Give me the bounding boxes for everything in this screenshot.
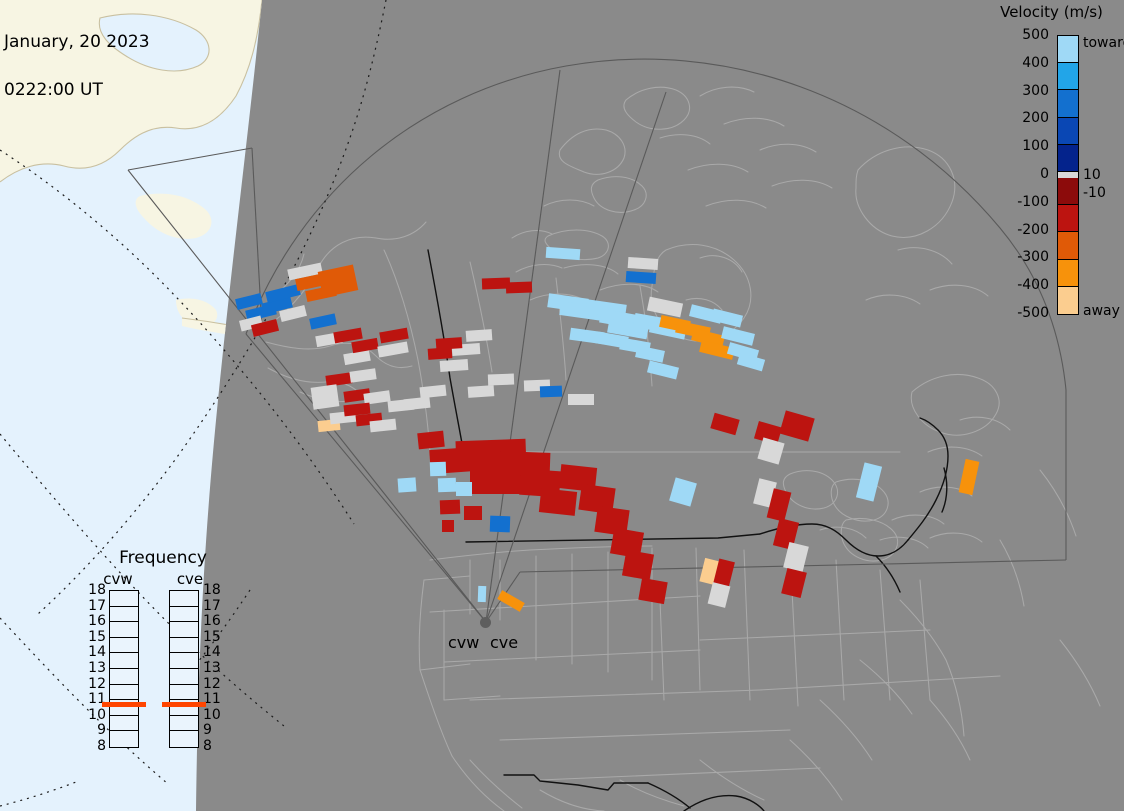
colorbar-label-away: away (1083, 303, 1120, 319)
frequency-tick-15: 15 (203, 629, 221, 645)
velocity-cell (488, 374, 514, 386)
velocity-cell (398, 477, 417, 492)
velocity-cell (781, 568, 807, 598)
colorbar-tick-100: 100 (1022, 138, 1049, 154)
frequency-tick-17: 17 (88, 598, 106, 614)
velocity-cell (440, 359, 469, 372)
velocity-cell (464, 506, 482, 520)
frequency-tick-8: 8 (203, 738, 212, 754)
colorbar-swatch-toward-3 (1058, 118, 1078, 145)
velocity-cell (349, 368, 376, 383)
velocity-cell (497, 590, 525, 612)
velocity-cell (647, 297, 683, 318)
velocity-cell (635, 345, 665, 363)
timestamp-date: January, 20 2023 (4, 34, 150, 50)
velocity-cell (351, 338, 379, 353)
radar-site-marker (480, 617, 491, 628)
velocity-cell (959, 459, 980, 495)
frequency-tick-16: 16 (203, 613, 221, 629)
frequency-tick-18: 18 (203, 582, 221, 598)
colorbar-tick-300: 300 (1022, 83, 1049, 99)
velocity-cell (490, 516, 511, 533)
colorbar-tick-0: 0 (1040, 166, 1049, 182)
colorbar-label-toward: toward (1083, 35, 1124, 51)
velocity-cell (440, 500, 460, 515)
frequency-scale-box-cve (169, 590, 199, 748)
frequency-segment (170, 731, 198, 747)
colorbar-tick-neg500: -500 (1017, 305, 1049, 321)
timestamp-block: January, 20 2023 0222:00 UT (4, 2, 150, 130)
velocity-cell (428, 347, 453, 360)
colorbar-swatch-away-4 (1058, 287, 1078, 314)
velocity-cell (506, 282, 532, 294)
frequency-tick-14: 14 (203, 644, 221, 660)
frequency-ticks-cvw: 18171615141312111098 (88, 590, 108, 748)
colorbar-threshold-high: 10 (1083, 167, 1101, 183)
velocity-cell (318, 265, 359, 298)
velocity-cell (419, 385, 446, 399)
frequency-legend-title: Frequency (88, 548, 238, 568)
frequency-tick-15: 15 (88, 629, 106, 645)
velocity-cell (377, 341, 408, 357)
velocity-cell (540, 386, 562, 398)
colorbar-tick-400: 400 (1022, 55, 1049, 71)
velocity-cell (333, 328, 362, 344)
colorbar-tick-500: 500 (1022, 27, 1049, 43)
velocity-cell (669, 477, 697, 506)
velocity-cell (325, 372, 352, 387)
radar-site-label-cvw: cvw (448, 633, 479, 652)
velocity-cell (403, 397, 430, 411)
frequency-tick-16: 16 (88, 613, 106, 629)
velocity-cell (568, 394, 594, 405)
velocity-cell (456, 482, 472, 496)
frequency-marker-cvw (102, 702, 146, 707)
velocity-cell (539, 488, 577, 516)
frequency-tick-12: 12 (88, 676, 106, 692)
frequency-ticks-cve: 18171615141312111098 (201, 590, 221, 748)
colorbar-swatch-away-1 (1058, 205, 1078, 232)
velocity-cell (708, 582, 731, 608)
velocity-cell (379, 328, 408, 344)
frequency-tick-8: 8 (97, 738, 106, 754)
velocity-cell (546, 247, 581, 260)
velocity-cell (757, 437, 784, 464)
colorbar-tick-labels: 5004003002001000-100-200-300-400-500 (975, 35, 1053, 315)
frequency-tick-10: 10 (203, 707, 221, 723)
frequency-segment (170, 622, 198, 638)
velocity-cell (626, 271, 657, 284)
colorbar-swatch-toward-0 (1058, 36, 1078, 63)
velocity-cell (442, 520, 454, 532)
frequency-segment (170, 716, 198, 732)
frequency-tick-14: 14 (88, 644, 106, 660)
velocity-cell (468, 385, 495, 398)
colorbar-tick-neg400: -400 (1017, 277, 1049, 293)
frequency-segment (170, 607, 198, 623)
frequency-tick-10: 10 (88, 707, 106, 723)
colorbar-side-labels: toward10-10away (1083, 35, 1124, 325)
colorbar-tick-neg200: -200 (1017, 222, 1049, 238)
velocity-cell (628, 257, 659, 270)
frequency-segment (110, 669, 138, 685)
colorbar-tick-neg100: -100 (1017, 194, 1049, 210)
frequency-segment (110, 731, 138, 747)
velocity-cell (721, 326, 755, 345)
colorbar-tick-200: 200 (1022, 110, 1049, 126)
radar-site-label-cve: cve (490, 633, 518, 652)
colorbar-swatch-away-0 (1058, 178, 1078, 205)
frequency-segment (110, 607, 138, 623)
velocity-cell (438, 478, 456, 493)
frequency-tick-9: 9 (97, 722, 106, 738)
velocity-cell (478, 586, 487, 602)
colorbar-gradient (1057, 35, 1079, 315)
frequency-tick-18: 18 (88, 582, 106, 598)
colorbar-title: Velocity (m/s) (980, 3, 1123, 21)
radar-map-canvas: cvw cve January, 20 2023 0222:00 UT Velo… (0, 0, 1124, 811)
frequency-tick-9: 9 (203, 722, 212, 738)
frequency-marker-cve (162, 702, 206, 707)
frequency-column-cve: cve 18171615141312111098 (160, 570, 220, 770)
frequency-segment (110, 653, 138, 669)
velocity-colorbar-panel: Velocity (m/s) 5004003002001000-100-200-… (975, 0, 1124, 340)
colorbar-tick-neg300: -300 (1017, 249, 1049, 265)
frequency-tick-13: 13 (88, 660, 106, 676)
colorbar-swatch-away-2 (1058, 232, 1078, 259)
frequency-segment (170, 591, 198, 607)
velocity-cell (417, 431, 445, 450)
colorbar-threshold-low: -10 (1083, 185, 1106, 201)
frequency-segment (110, 591, 138, 607)
timestamp-time: 0222:00 UT (4, 82, 150, 98)
frequency-segment (170, 638, 198, 654)
velocity-cell (779, 410, 814, 441)
velocity-cell (856, 462, 882, 501)
colorbar-swatch-away-3 (1058, 260, 1078, 287)
frequency-column-cvw: cvw 18171615141312111098 (88, 570, 148, 770)
velocity-cell (466, 329, 493, 342)
colorbar-swatch-toward-1 (1058, 63, 1078, 90)
colorbar-swatch-toward-2 (1058, 90, 1078, 117)
frequency-segment (110, 685, 138, 701)
frequency-segment (110, 622, 138, 638)
frequency-segment (170, 685, 198, 701)
velocity-cell (711, 309, 743, 328)
velocity-cell (647, 361, 679, 380)
colorbar-swatch-toward-4 (1058, 145, 1078, 172)
velocity-cell (430, 462, 446, 477)
velocity-cell (638, 578, 667, 604)
frequency-legend-panel: Frequency cvw 18171615141312111098 cve 1… (88, 548, 238, 773)
frequency-tick-17: 17 (203, 598, 221, 614)
velocity-cell (309, 313, 337, 329)
velocity-cell (710, 413, 739, 436)
velocity-cell (311, 384, 340, 409)
frequency-segment (170, 653, 198, 669)
frequency-segment (170, 669, 198, 685)
frequency-segment (110, 716, 138, 732)
frequency-segment (110, 638, 138, 654)
frequency-scale-box-cvw (109, 590, 139, 748)
frequency-tick-12: 12 (203, 676, 221, 692)
velocity-cell (622, 550, 654, 580)
frequency-tick-13: 13 (203, 660, 221, 676)
